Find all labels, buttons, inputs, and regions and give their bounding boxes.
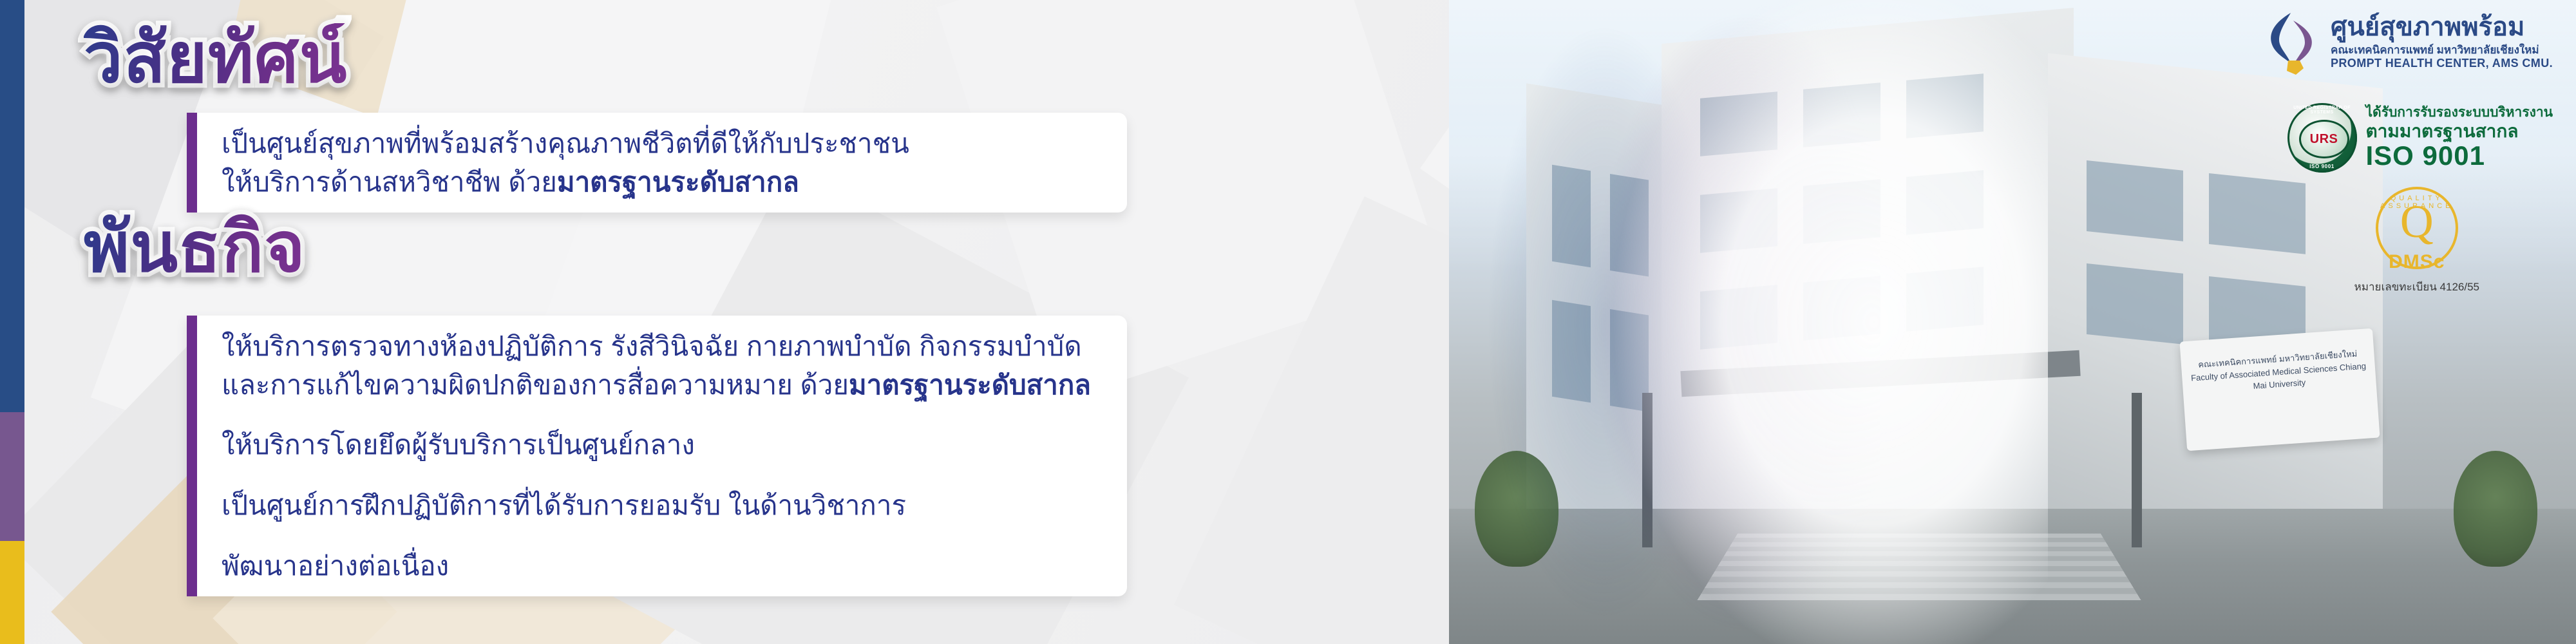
quality-assurance-seal-icon: QUALITY ASSURANCE Q DMSc — [2376, 187, 2458, 269]
vision-line-2: ให้บริการด้านสหวิชาชีพ ด้วยมาตรฐานระดับส… — [222, 163, 1101, 202]
vision-line-1-text: เป็นศูนย์สุขภาพที่พร้อมสร้างคุณภาพชีวิตท… — [222, 128, 909, 158]
organization-logo: ศูนย์สุขภาพพร้อม คณะเทคนิคการแพทย์ มหาวิ… — [2262, 9, 2553, 76]
vision-line-2-bold: มาตรฐานระดับสากล — [557, 167, 799, 197]
mission-card: ให้บริการตรวจทางห้องปฏิบัติการ รังสีวินิ… — [187, 316, 1127, 596]
vision-heading: วิสัยทัศน์ — [84, 23, 347, 93]
building-sign: คณะเทคนิคการแพทย์ มหาวิทยาลัยเชียงใหม่ F… — [2179, 328, 2380, 451]
logo-title-th: ศูนย์สุขภาพพร้อม — [2331, 14, 2553, 40]
urs-seal-icon: UNITED REGISTRAR OF SYSTEMS URS ISO 9001 — [2287, 103, 2357, 173]
mission-line-4: เป็นศูนย์การฝึกปฏิบัติการที่ได้รับการยอม… — [222, 486, 1101, 525]
mission-line-2-bold: มาตรฐานระดับสากล — [849, 370, 1091, 400]
registration-number: หมายเลขทะเบียน 4126/55 — [2354, 278, 2479, 296]
building-photo: คณะเทคนิคการแพทย์ มหาวิทยาลัยเชียงใหม่ F… — [1449, 0, 2576, 644]
mission-line-2-text: และการแก้ไขความผิดปกติของการสื่อความหมาย… — [222, 370, 849, 400]
logo-subtitle-th: คณะเทคนิคการแพทย์ มหาวิทยาลัยเชียงใหม่ — [2331, 43, 2553, 57]
mission-heading: พันธกิจ — [84, 213, 306, 282]
iso-line-1: ได้รับการรับรองระบบบริหารงาน — [2366, 106, 2553, 120]
logo-title-en: PROMPT HEALTH CENTER, AMS CMU. — [2331, 57, 2553, 71]
mission-line-1-text: ให้บริการตรวจทางห้องปฏิบัติการ รังสีวินิ… — [222, 331, 1082, 361]
vision-card: เป็นศูนย์สุขภาพที่พร้อมสร้างคุณภาพชีวิตท… — [187, 113, 1127, 213]
iso-line-2: ตามมาตรฐานสากล — [2366, 122, 2553, 140]
prompt-health-center-logo-icon — [2262, 9, 2322, 76]
vision-line-2-text: ให้บริการด้านสหวิชาชีพ ด้วย — [222, 167, 557, 197]
vision-mission-banner: คณะเทคนิคการแพทย์ มหาวิทยาลัยเชียงใหม่ F… — [0, 0, 2576, 644]
dmsc-quality-seal-block: QUALITY ASSURANCE Q DMSc หมายเลขทะเบียน … — [2354, 187, 2479, 296]
content-area: วิสัยทัศน์ วิสัยทัศน์ เป็นศูนย์สุขภาพที่… — [0, 0, 1385, 644]
building-sign-text: คณะเทคนิคการแพทย์ มหาวิทยาลัยเชียงใหม่ F… — [2188, 347, 2368, 397]
urs-ring-top-text: UNITED REGISTRAR OF SYSTEMS — [2287, 106, 2357, 115]
mission-line-5: พัฒนาอย่างต่อเนื่อง — [222, 547, 1101, 585]
urs-seal-word: URS — [2310, 132, 2338, 147]
vision-line-1: เป็นศูนย์สุขภาพที่พร้อมสร้างคุณภาพชีวิตท… — [222, 124, 1101, 163]
urs-ring-bottom-text: ISO 9001 — [2287, 164, 2357, 169]
quality-seal-org: DMSc — [2378, 251, 2456, 273]
mission-line-3: ให้บริการโดยยึดผู้รับบริการเป็นศูนย์กลาง — [222, 426, 1101, 464]
mission-line-3-text: ให้บริการโดยยึดผู้รับบริการเป็นศูนย์กลาง — [222, 430, 695, 460]
quality-seal-letter: Q — [2378, 198, 2456, 245]
iso-line-3: ISO 9001 — [2366, 142, 2553, 170]
mission-line-4-text: เป็นศูนย์การฝึกปฏิบัติการที่ได้รับการยอม… — [222, 490, 906, 520]
mission-line-5-text: พัฒนาอย่างต่อเนื่อง — [222, 551, 449, 581]
mission-line-1: ให้บริการตรวจทางห้องปฏิบัติการ รังสีวินิ… — [222, 327, 1101, 366]
iso-certification-block: UNITED REGISTRAR OF SYSTEMS URS ISO 9001… — [2287, 103, 2553, 173]
mission-line-2: และการแก้ไขความผิดปกติของการสื่อความหมาย… — [222, 366, 1101, 404]
